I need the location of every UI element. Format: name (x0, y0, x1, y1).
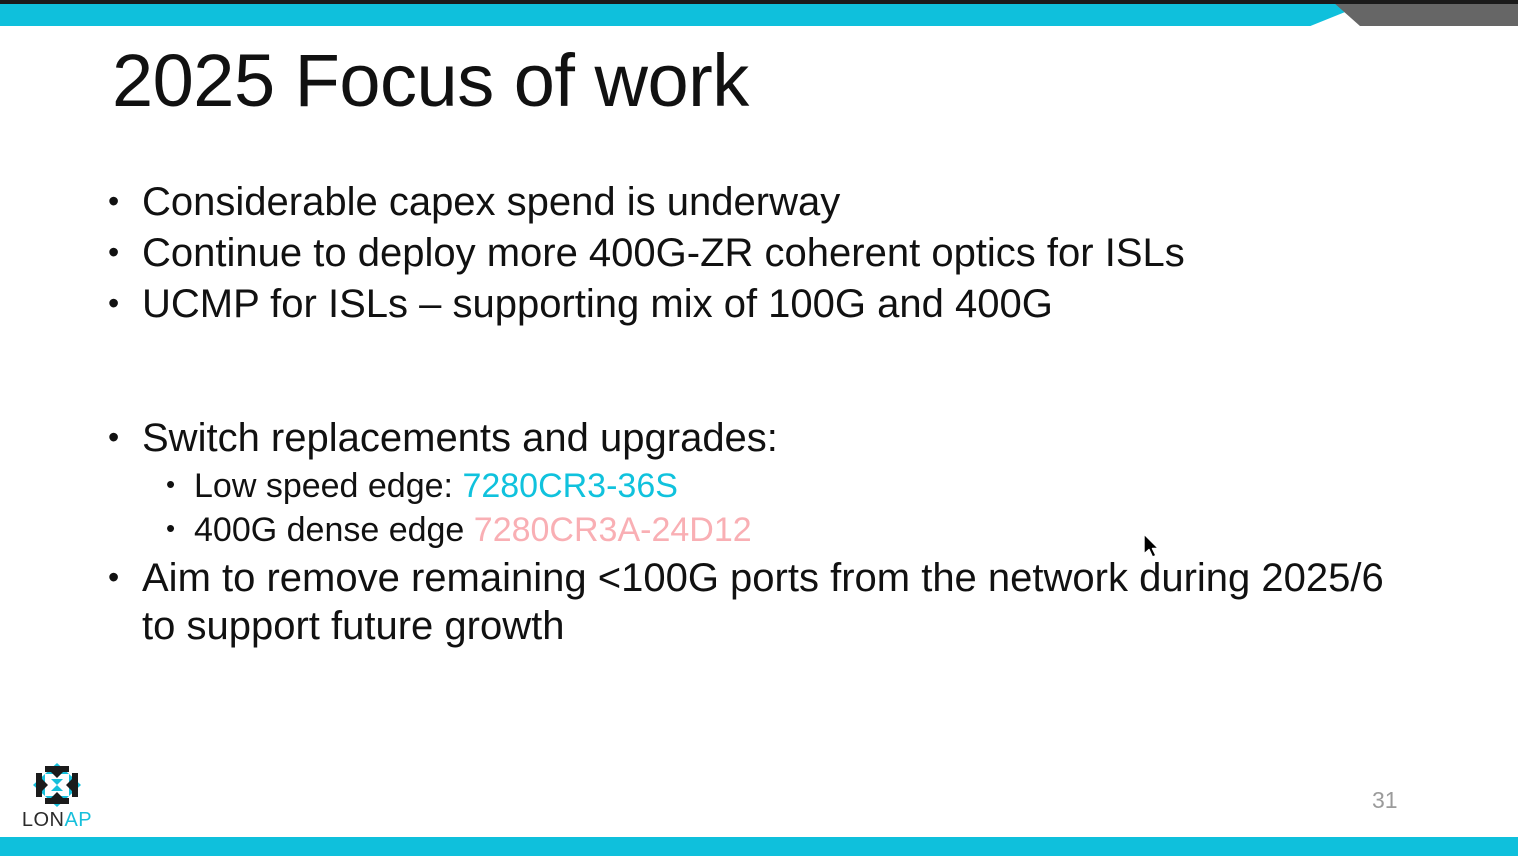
bullet-item: • Considerable capex spend is underway (108, 178, 1408, 227)
bullet-text: UCMP for ISLs – supporting mix of 100G a… (142, 280, 1408, 329)
page-title: 2025 Focus of work (112, 44, 749, 118)
bullet-marker: • (166, 509, 194, 548)
sub-bullet-item: • 400G dense edge 7280CR3A-24D12 (166, 509, 1408, 551)
bullet-item: • Continue to deploy more 400G-ZR cohere… (108, 229, 1408, 278)
sub-bullet-text: Low speed edge: 7280CR3-36S (194, 465, 1408, 507)
diamond-arrows-icon (32, 762, 82, 808)
sub-bullet-item: • Low speed edge: 7280CR3-36S (166, 465, 1408, 507)
bullet-text: Aim to remove remaining <100G ports from… (142, 554, 1408, 652)
lonap-logo: LONAP (16, 762, 98, 830)
bullet-gap-spacer (108, 330, 1408, 414)
lonap-logo-mark-icon (32, 762, 82, 808)
page-number: 31 (1372, 787, 1398, 814)
sub-bullet-text: 400G dense edge 7280CR3A-24D12 (194, 509, 1408, 551)
bullet-item: • UCMP for ISLs – supporting mix of 100G… (108, 280, 1408, 329)
sub-bullet-label: 400G dense edge (194, 511, 474, 549)
presentation-slide: 2025 Focus of work • Considerable capex … (0, 0, 1518, 856)
product-model-lowspeed: 7280CR3-36S (462, 467, 677, 505)
bullet-marker: • (166, 465, 194, 504)
bullet-marker: • (108, 178, 142, 224)
slide-body: • Considerable capex spend is underway •… (108, 178, 1408, 653)
top-banner (0, 4, 1518, 26)
bullet-text: Continue to deploy more 400G-ZR coherent… (142, 229, 1408, 278)
product-model-dense: 7280CR3A-24D12 (474, 511, 752, 549)
lonap-wordmark-lon: LON (22, 809, 65, 831)
bullet-marker: • (108, 280, 142, 326)
bottom-banner (0, 837, 1518, 856)
lonap-wordmark-ap: AP (64, 809, 92, 831)
bullet-text: Considerable capex spend is underway (142, 178, 1408, 227)
bullet-item: • Switch replacements and upgrades: (108, 414, 1408, 463)
bullet-item: • Aim to remove remaining <100G ports fr… (108, 554, 1408, 652)
lonap-wordmark: LONAP (16, 810, 98, 830)
bullet-marker: • (108, 229, 142, 275)
top-banner-cyan-segment (0, 4, 1365, 26)
bullet-text: Switch replacements and upgrades: (142, 414, 1408, 463)
bullet-marker: • (108, 554, 142, 600)
sub-bullet-label: Low speed edge: (194, 467, 462, 505)
bullet-marker: • (108, 414, 142, 460)
